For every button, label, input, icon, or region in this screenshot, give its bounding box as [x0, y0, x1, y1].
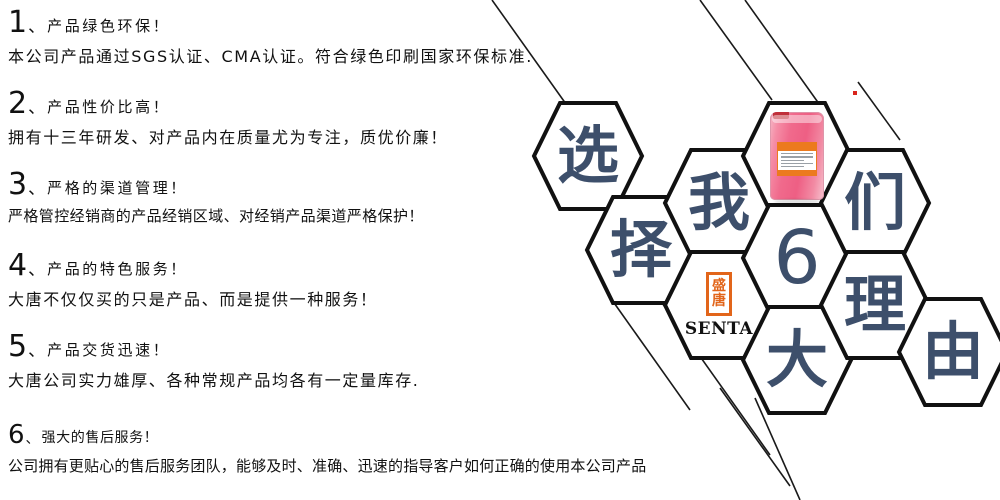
hex-label: 我: [688, 172, 750, 234]
reason-body: 拥有十三年研发、对产品内在质量尤为专注，质优价廉！: [8, 124, 448, 148]
reason-number: 2: [8, 89, 27, 119]
reason-heading: 2 、 产品性价比高！: [8, 89, 448, 119]
hex-label: 6: [773, 221, 820, 295]
reason-title: 产品的特色服务！: [47, 258, 188, 279]
label-header-bar: [778, 143, 816, 151]
reason-title: 产品性价比高！: [47, 96, 170, 117]
hex-label: 们: [844, 172, 906, 234]
reason-item-1: 1 、 产品绿色环保！ 本公司产品通过SGS认证、CMA认证。符合绿色印刷国家环…: [8, 8, 533, 67]
label-line: [781, 163, 813, 164]
reason-item-3: 3 、 严格的渠道管理！ 严格管控经销商的产品经销区域、对经销产品渠道严格保护！: [8, 170, 424, 226]
reason-separator: 、: [26, 428, 40, 448]
reason-body: 大唐公司实力雄厚、各种常规产品均各有一定量库存.: [8, 367, 420, 391]
logo-wordmark: SENTA: [685, 319, 753, 339]
reason-number: 5: [8, 332, 27, 362]
hex-cell-men[interactable]: 们: [818, 147, 932, 259]
reason-title: 产品交货迅速！: [47, 339, 170, 360]
hex-label: 由: [922, 321, 984, 383]
reason-body: 大唐不仅仅买的只是产品、而是提供一种服务！: [8, 286, 378, 310]
reason-body: 公司拥有更贴心的售后服务团队，能够及时、准确、迅速的指导客户如何正确的使用本公司…: [8, 455, 998, 476]
brand-logo: 盛 唐 SENTA: [685, 272, 753, 339]
hex-label: 选: [557, 125, 619, 187]
reason-item-2: 2 、 产品性价比高！ 拥有十三年研发、对产品内在质量尤为专注，质优价廉！: [8, 89, 448, 148]
reason-title: 产品绿色环保！: [47, 15, 170, 36]
hex-label: 大: [766, 329, 828, 391]
label-line: [781, 166, 804, 167]
reason-separator: 、: [28, 12, 45, 37]
reason-separator: 、: [28, 174, 45, 199]
label-line: [781, 153, 813, 154]
reason-item-5: 5 、 产品交货迅速！ 大唐公司实力雄厚、各种常规产品均各有一定量库存.: [8, 332, 420, 391]
reason-title: 严格的渠道管理！: [47, 177, 188, 198]
reason-heading: 1 、 产品绿色环保！: [8, 8, 533, 38]
reason-item-6: 6 、 强大的售后服务！ 公司拥有更贴心的售后服务团队，能够及时、准确、迅速的指…: [8, 420, 998, 476]
reason-title: 强大的售后服务！: [42, 427, 159, 447]
product-label: [777, 142, 817, 176]
hex-label: 理: [844, 274, 906, 336]
reason-number: 4: [8, 251, 27, 281]
product-container-image: [766, 110, 828, 202]
jerrycan-sheen: [772, 115, 822, 123]
reason-item-4: 4 、 产品的特色服务！ 大唐不仅仅买的只是产品、而是提供一种服务！: [8, 251, 378, 310]
reason-body: 本公司产品通过SGS认证、CMA认证。符合绿色印刷国家环保标准.: [8, 43, 533, 67]
promo-banner: 1 、 产品绿色环保！ 本公司产品通过SGS认证、CMA认证。符合绿色印刷国家环…: [0, 0, 1000, 500]
reason-number: 6: [8, 420, 25, 450]
reason-separator: 、: [28, 255, 45, 280]
reason-heading: 5 、 产品交货迅速！: [8, 332, 420, 362]
hex-cell-you[interactable]: 由: [896, 296, 1000, 408]
reason-number: 1: [8, 8, 27, 38]
label-line: [781, 156, 813, 157]
reason-separator: 、: [28, 93, 45, 118]
red-dot-artifact: [853, 91, 857, 95]
reason-heading: 6 、 强大的售后服务！: [8, 420, 998, 450]
label-footer-bar: [778, 170, 816, 175]
reason-heading: 3 、 严格的渠道管理！: [8, 170, 424, 200]
logo-seal-icon: 盛 唐: [706, 272, 732, 316]
logo-char-top: 盛: [712, 279, 726, 294]
reason-heading: 4 、 产品的特色服务！: [8, 251, 378, 281]
reason-separator: 、: [28, 336, 45, 361]
product-shadow: [774, 199, 820, 204]
reason-body: 严格管控经销商的产品经销区域、对经销产品渠道严格保护！: [8, 205, 424, 226]
reason-number: 3: [8, 170, 27, 200]
jerrycan-body: [770, 112, 824, 200]
logo-char-bottom: 唐: [712, 294, 726, 309]
hex-label: 择: [610, 219, 672, 281]
label-line: [781, 160, 804, 161]
